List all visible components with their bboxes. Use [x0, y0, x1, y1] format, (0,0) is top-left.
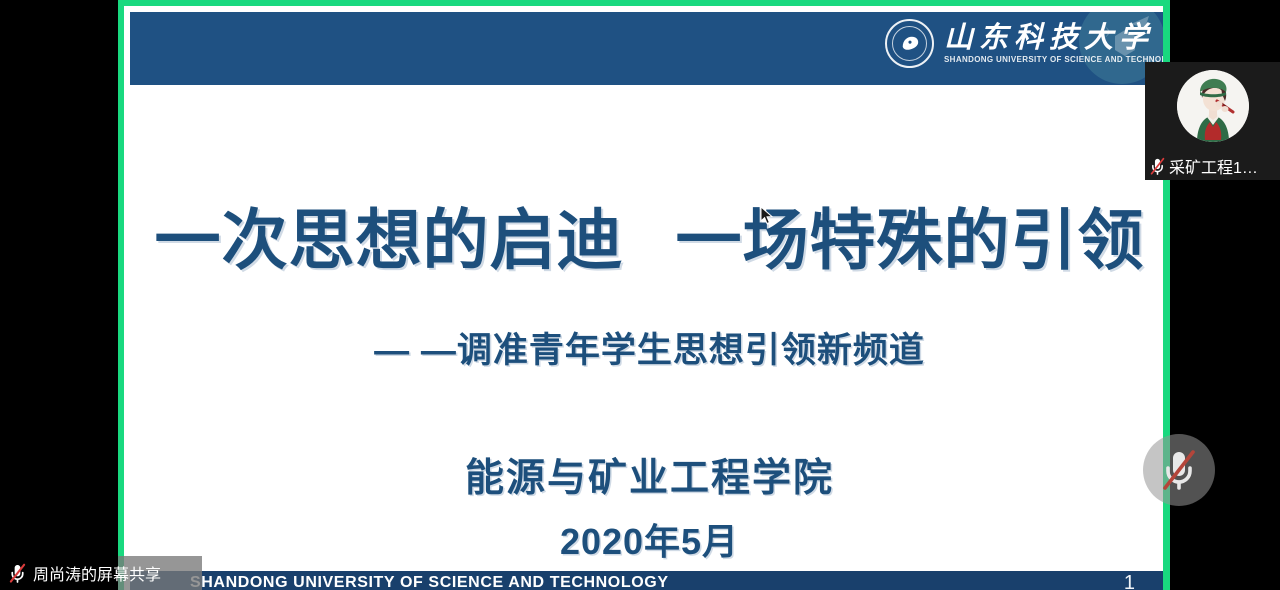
slide-page-number: 1	[1124, 572, 1135, 590]
slide-title: 一次思想的启迪一场特殊的引领	[130, 187, 1169, 283]
mute-toggle-button[interactable]	[1143, 434, 1215, 506]
slide-footer-text: SHANDONG UNIVERSITY OF SCIENCE AND TECHN…	[190, 574, 669, 590]
mic-off-icon	[1159, 448, 1199, 492]
university-name-cn: 山东科技大学	[944, 22, 1169, 52]
mouse-cursor	[760, 206, 774, 226]
participant-name-text: 采矿工程1…	[1169, 154, 1258, 178]
share-status-bar[interactable]: 周尚涛的屏幕共享	[0, 556, 202, 590]
slide-content: 一次思想的启迪一场特殊的引领 — —调准青年学生思想引领新频道 能源与矿业工程学…	[130, 85, 1169, 573]
slide-organization: 能源与矿业工程学院	[130, 447, 1169, 503]
mic-off-icon	[8, 563, 27, 584]
university-seal-icon	[885, 19, 934, 68]
university-logo: 山东科技大学 SHANDONG UNIVERSITY OF SCIENCE AN…	[885, 19, 1169, 68]
slide-title-part1: 一次思想的启迪	[155, 203, 624, 277]
slide-footer-band: SHANDONG UNIVERSITY OF SCIENCE AND TECHN…	[130, 571, 1169, 590]
avatar	[1177, 70, 1249, 142]
screen-share-frame: 山东科技大学 SHANDONG UNIVERSITY OF SCIENCE AN…	[118, 0, 1170, 590]
university-name-en: SHANDONG UNIVERSITY OF SCIENCE AND TECHN…	[944, 54, 1169, 65]
slide-subtitle: — —调准青年学生思想引领新频道	[130, 322, 1169, 373]
participant-thumbnail[interactable]: 采矿工程1…	[1145, 62, 1280, 180]
zoom-meeting-window: 山东科技大学 SHANDONG UNIVERSITY OF SCIENCE AN…	[0, 0, 1280, 590]
participant-name-label: 采矿工程1…	[1149, 154, 1258, 178]
presentation-slide: 山东科技大学 SHANDONG UNIVERSITY OF SCIENCE AN…	[130, 12, 1169, 590]
slide-date: 2020年5月	[130, 513, 1169, 565]
mic-off-icon	[1149, 157, 1166, 176]
slide-header-band: 山东科技大学 SHANDONG UNIVERSITY OF SCIENCE AN…	[130, 12, 1169, 85]
university-wordmark: 山东科技大学 SHANDONG UNIVERSITY OF SCIENCE AN…	[944, 22, 1169, 65]
slide-title-part2: 一场特殊的引领	[676, 203, 1145, 277]
share-status-text: 周尚涛的屏幕共享	[33, 561, 161, 585]
